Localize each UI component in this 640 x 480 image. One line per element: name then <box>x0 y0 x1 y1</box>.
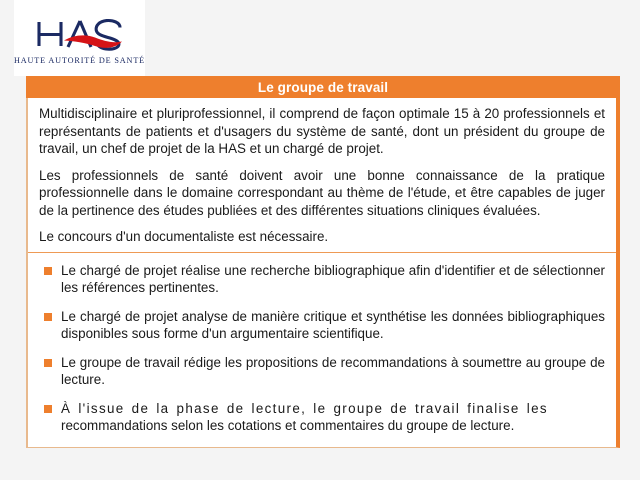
list-item-text: À l'issue de la phase de lecture, le gro… <box>61 400 605 435</box>
list-item-text: Le chargé de projet analyse de manière c… <box>61 308 605 343</box>
square-bullet-icon <box>44 267 52 275</box>
list-item-text: Le groupe de travail rédige les proposit… <box>61 354 605 389</box>
page-title: Le groupe de travail <box>258 80 388 95</box>
list-item-text-line-1: À l'issue de la phase de lecture, le gro… <box>61 400 605 418</box>
list-item: Le chargé de projet réalise une recherch… <box>39 262 605 297</box>
square-bullet-icon <box>44 359 52 367</box>
paragraph-3: Le concours d'un documentaliste est néce… <box>39 228 605 246</box>
has-logo-caption: HAUTE AUTORITÉ DE SANTÉ <box>14 56 145 65</box>
paragraph-block: Multidisciplinaire et pluriprofessionnel… <box>28 98 616 253</box>
list-item-text: Le chargé de projet réalise une recherch… <box>61 262 605 297</box>
section-title-bar: Le groupe de travail <box>26 76 620 98</box>
paragraph-2: Les professionnels de santé doivent avoi… <box>39 167 605 220</box>
has-wordmark-icon <box>28 15 132 55</box>
square-bullet-icon <box>44 405 52 413</box>
bullet-list: Le chargé de projet réalise une recherch… <box>28 253 616 448</box>
list-item: Le groupe de travail rédige les proposit… <box>39 354 605 389</box>
list-item: Le chargé de projet analyse de manière c… <box>39 308 605 343</box>
list-item-text-line-2: recommandations selon les cotations et c… <box>61 418 514 433</box>
has-logo-box: HAUTE AUTORITÉ DE SANTÉ <box>14 0 145 76</box>
content-frame: Multidisciplinaire et pluriprofessionnel… <box>26 98 620 448</box>
square-bullet-icon <box>44 313 52 321</box>
paragraph-1: Multidisciplinaire et pluriprofessionnel… <box>39 105 605 158</box>
list-item: À l'issue de la phase de lecture, le gro… <box>39 400 605 435</box>
